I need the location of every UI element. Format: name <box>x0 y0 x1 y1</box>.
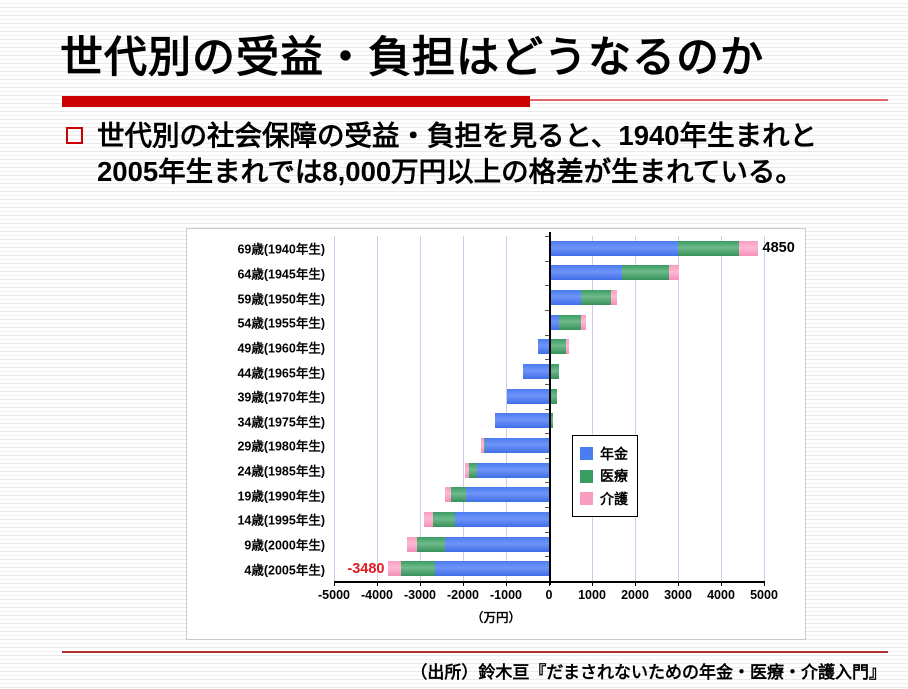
x-axis-tick <box>678 581 679 586</box>
x-axis-tick-label: 0 <box>546 588 553 602</box>
bar-segment-care <box>611 290 617 305</box>
x-axis-tick-label: 2000 <box>621 588 649 602</box>
bar-segment-care <box>388 561 401 576</box>
bar-segment-medical <box>417 537 445 552</box>
gridline <box>506 236 507 581</box>
category-label: 34歳(1975年生) <box>237 411 325 430</box>
legend-label-medical: 医療 <box>600 466 628 486</box>
bar-value-label: 4850 <box>763 240 795 256</box>
bar-segment-medical <box>559 315 581 330</box>
x-axis-tick <box>764 581 765 586</box>
legend-item-pension: 年金 <box>580 444 628 464</box>
legend-swatch-medical <box>580 470 593 483</box>
legend-item-care: 介護 <box>580 489 628 509</box>
bar-segment-care <box>445 487 451 502</box>
gridline <box>678 236 679 581</box>
zero-axis-line <box>549 232 551 585</box>
x-axis-tick-label: 5000 <box>750 588 778 602</box>
chart-panel: （万円） 年金 医療 介護 -5000-4000-3000-2000-10000… <box>186 228 806 640</box>
bullet-block: 世代別の社会保障の受益・負担を見ると、1940年生まれと2005年生まれでは8,… <box>66 118 866 191</box>
category-label: 69歳(1940年生) <box>237 239 325 258</box>
source-note: （出所）鈴木亘『だまされないための年金・医療・介護入門』 <box>410 658 886 683</box>
bar-segment-care <box>407 537 418 552</box>
x-axis-tick <box>334 581 335 586</box>
bar-segment-pension <box>477 463 549 478</box>
bar-segment-pension <box>549 265 622 280</box>
title-underline-thin <box>530 99 888 101</box>
category-label: 59歳(1950年生) <box>237 288 325 307</box>
category-label: 49歳(1960年生) <box>237 337 325 356</box>
bar-segment-medical <box>678 241 739 256</box>
x-axis-tick-label: -5000 <box>318 588 350 602</box>
x-axis-tick <box>506 581 507 586</box>
bar-segment-care <box>424 512 433 527</box>
title-underline-thick <box>62 96 530 107</box>
bar-segment-care <box>566 339 569 354</box>
gridline <box>334 236 335 581</box>
gridline <box>420 236 421 581</box>
bar-segment-medical <box>622 265 668 280</box>
bar-segment-care <box>739 241 757 256</box>
bar-segment-pension <box>538 339 549 354</box>
bar-segment-pension <box>455 512 549 527</box>
bar-segment-pension <box>507 389 549 404</box>
legend-label-care: 介護 <box>600 489 628 509</box>
category-label: 39歳(1970年生) <box>237 387 325 406</box>
category-label: 4歳(2005年生) <box>244 559 325 578</box>
bar-segment-care <box>465 463 470 478</box>
bar-segment-pension <box>466 487 549 502</box>
x-axis-tick <box>420 581 421 586</box>
bar-segment-medical <box>581 290 611 305</box>
bar-segment-pension <box>523 364 549 379</box>
bar-segment-medical <box>549 339 566 354</box>
bar-segment-pension <box>485 438 549 453</box>
x-axis-tick-label: -3000 <box>404 588 436 602</box>
bar-segment-medical <box>484 438 485 453</box>
page-title: 世代別の受益・負担はどうなるのか <box>60 36 860 81</box>
bar-segment-pension <box>435 561 549 576</box>
category-label: 29歳(1980年生) <box>237 436 325 455</box>
bar-segment-pension <box>445 537 549 552</box>
bar-segment-pension <box>549 241 678 256</box>
x-axis-tick <box>463 581 464 586</box>
bar-segment-care <box>481 438 484 453</box>
gridline <box>764 236 765 581</box>
x-axis-tick-label: -2000 <box>447 588 479 602</box>
x-axis-tick <box>592 581 593 586</box>
x-axis-tick-label: 4000 <box>707 588 735 602</box>
x-axis-tick <box>721 581 722 586</box>
bar-segment-pension <box>549 290 581 305</box>
footer-divider <box>62 651 888 653</box>
legend-swatch-pension <box>580 447 593 460</box>
bar-segment-medical <box>451 487 465 502</box>
chart-legend: 年金 医療 介護 <box>572 435 638 517</box>
bar-segment-medical <box>469 463 476 478</box>
bar-segment-care <box>669 265 679 280</box>
category-label: 19歳(1990年生) <box>237 485 325 504</box>
gridline <box>635 236 636 581</box>
x-axis-tick <box>377 581 378 586</box>
x-axis-tick-label: -4000 <box>361 588 393 602</box>
legend-item-medical: 医療 <box>580 466 628 486</box>
gridline <box>377 236 378 581</box>
category-label: 24歳(1985年生) <box>237 461 325 480</box>
legend-label-pension: 年金 <box>600 444 628 464</box>
bar-segment-medical <box>433 512 455 527</box>
bar-segment-pension <box>495 413 549 428</box>
gridline <box>721 236 722 581</box>
category-label: 54歳(1955年生) <box>237 313 325 332</box>
x-axis-unit-label: （万円） <box>187 607 805 626</box>
x-axis-tick-label: 1000 <box>578 588 606 602</box>
plot-area <box>334 236 764 581</box>
square-bullet-icon <box>66 127 83 144</box>
category-label: 14歳(1995年生) <box>237 510 325 529</box>
x-axis-tick-label: -1000 <box>490 588 522 602</box>
category-label: 64歳(1945年生) <box>237 263 325 282</box>
gridline <box>463 236 464 581</box>
category-label: 9歳(2000年生) <box>244 535 325 554</box>
bar-segment-medical <box>401 561 435 576</box>
bar-value-label: -3480 <box>347 561 384 577</box>
x-axis-tick-label: 3000 <box>664 588 692 602</box>
x-axis-tick <box>635 581 636 586</box>
legend-swatch-care <box>580 492 593 505</box>
bar-segment-care <box>581 315 586 330</box>
bullet-text: 世代別の社会保障の受益・負担を見ると、1940年生まれと2005年生まれでは8,… <box>97 118 866 191</box>
category-label: 44歳(1965年生) <box>237 362 325 381</box>
gridline <box>592 236 593 581</box>
